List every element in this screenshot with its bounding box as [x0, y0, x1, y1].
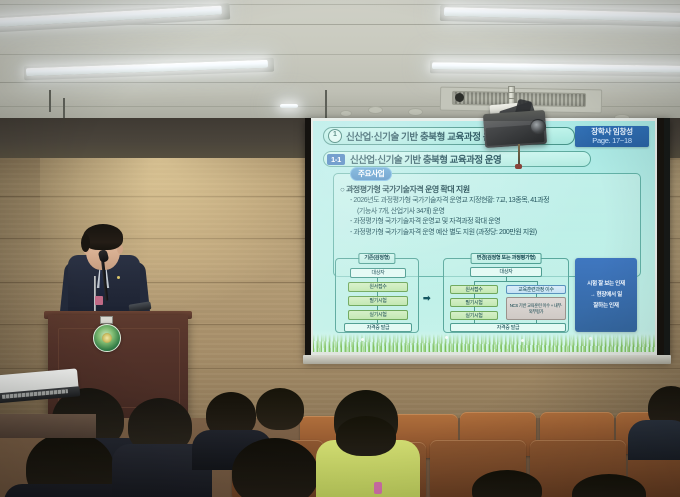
ceiling-spotlight-2	[58, 98, 70, 120]
ceiling-light-5	[280, 104, 298, 108]
podium-emblem-tag	[100, 316, 113, 324]
podium-crest-icon	[93, 324, 121, 352]
speaker-hair	[83, 224, 123, 250]
diagram-existing: 기존(검정형) 대상자 원서접수 필기시험 실기시험 자격증 발급	[335, 258, 419, 333]
slide-subtitle-bar: 1-1 신산업·신기술 기반 충북형 교육과정 운영	[323, 151, 591, 167]
callout-line: 잘하는 인재	[593, 302, 619, 310]
diagram-left-header: 기존(검정형)	[358, 253, 395, 264]
slide-presenter-badge: 장학사 임창성 Page. 17~18	[575, 126, 649, 147]
projector-cable	[518, 144, 520, 166]
diagram-left-node: 필기시험	[348, 296, 408, 306]
audience-head	[232, 438, 318, 497]
slide-title-text: 신산업·신기술 기반 충북형 교육과정 운영	[346, 129, 500, 143]
slide-bullet: - 과정평가형 국가기술자격 운영 예산 별도 지원 (과정당: 200만원 지…	[350, 228, 640, 239]
screen-right-edge	[657, 118, 664, 361]
diagram-right-header: 변경(검정형 또는 과정평가형)	[471, 253, 542, 264]
callout-line: 시험 잘 보는 인재	[587, 280, 625, 288]
audience-head	[256, 388, 304, 430]
callout-line: → 현장에서 일	[590, 291, 622, 299]
slide-body-caption: 주요사업	[350, 167, 392, 181]
diagram-right-node: NCS 기반 교육훈련 이수 + 내부·외부평가	[506, 297, 566, 320]
smoke-detector-1	[368, 106, 383, 114]
projector-cable-plug	[515, 164, 522, 169]
slide-body-bullets: - 2026년도 과정평가형 국가기술자격 운영교 지정현황: 7교, 13종목…	[350, 196, 640, 238]
diagram-left-node: 실기시험	[348, 310, 408, 320]
presenter-page: Page. 17~18	[575, 136, 649, 145]
slide-section-number: 1	[328, 129, 342, 143]
presenter-name: 장학사 임창성	[575, 127, 649, 136]
slide-bullet: - 2026년도 과정평가형 국가기술자격 운영교 지정현황: 7교, 13종목…	[350, 196, 640, 207]
presentation-photo: 1 신산업·신기술 기반 충북형 교육과정 운영 장학사 임창성 Page. 1…	[0, 0, 680, 497]
smoke-detector-3	[340, 110, 352, 117]
diagram-revised: 변경(검정형 또는 과정평가형) 대상자 원서접수 필기시험 실기시험 교육훈련…	[443, 258, 569, 333]
diagram-transition-arrow: ➡	[423, 293, 431, 304]
diagram-right-top-node: 대상자	[470, 267, 542, 277]
slide-bullet: - 과정평가형 국가기술자격 운영교 및 자격과정 확대 운영	[350, 217, 640, 228]
slide-bullet: (기능사 7개, 산업기사 34개) 운영	[350, 207, 640, 218]
ceiling-spotlight-3	[320, 90, 332, 120]
speaker-lapel-pin	[117, 276, 120, 279]
diagram-left-node: 대상자	[350, 268, 406, 278]
smoke-detector-2	[408, 108, 423, 116]
diagram-right-node: 필기시험	[450, 298, 498, 307]
slide-callout-box: 시험 잘 보는 인재 → 현장에서 일 잘하는 인재	[575, 258, 637, 332]
projected-slide: 1 신산업·신기술 기반 충북형 교육과정 운영 장학사 임창성 Page. 1…	[313, 121, 655, 352]
diagram-right-node: 교육훈련과정 이수	[506, 285, 566, 294]
speaker-lanyard-card	[95, 296, 103, 305]
screen-bottom-bar	[303, 355, 671, 364]
slide-body-heading: ○ 과정평가형 국가기술자격 운영 확대 지원	[340, 184, 470, 195]
diagram-left-node: 원서접수	[348, 282, 408, 292]
audience-torso	[628, 420, 680, 460]
ceiling-spotlight-1	[44, 90, 56, 112]
screen-left-edge	[305, 118, 311, 361]
slide-subtitle-tag: 1-1	[327, 154, 345, 165]
diagram-right-node: 실기시험	[450, 311, 498, 320]
foreground-table	[0, 414, 96, 438]
slide-grass-blades	[313, 334, 655, 352]
audience-head	[336, 416, 396, 456]
diagram-right-node: 원서접수	[450, 285, 498, 294]
seat-name-tag	[374, 482, 382, 494]
slide-subtitle-text: 신산업·신기술 기반 충북형 교육과정 운영	[350, 152, 501, 166]
